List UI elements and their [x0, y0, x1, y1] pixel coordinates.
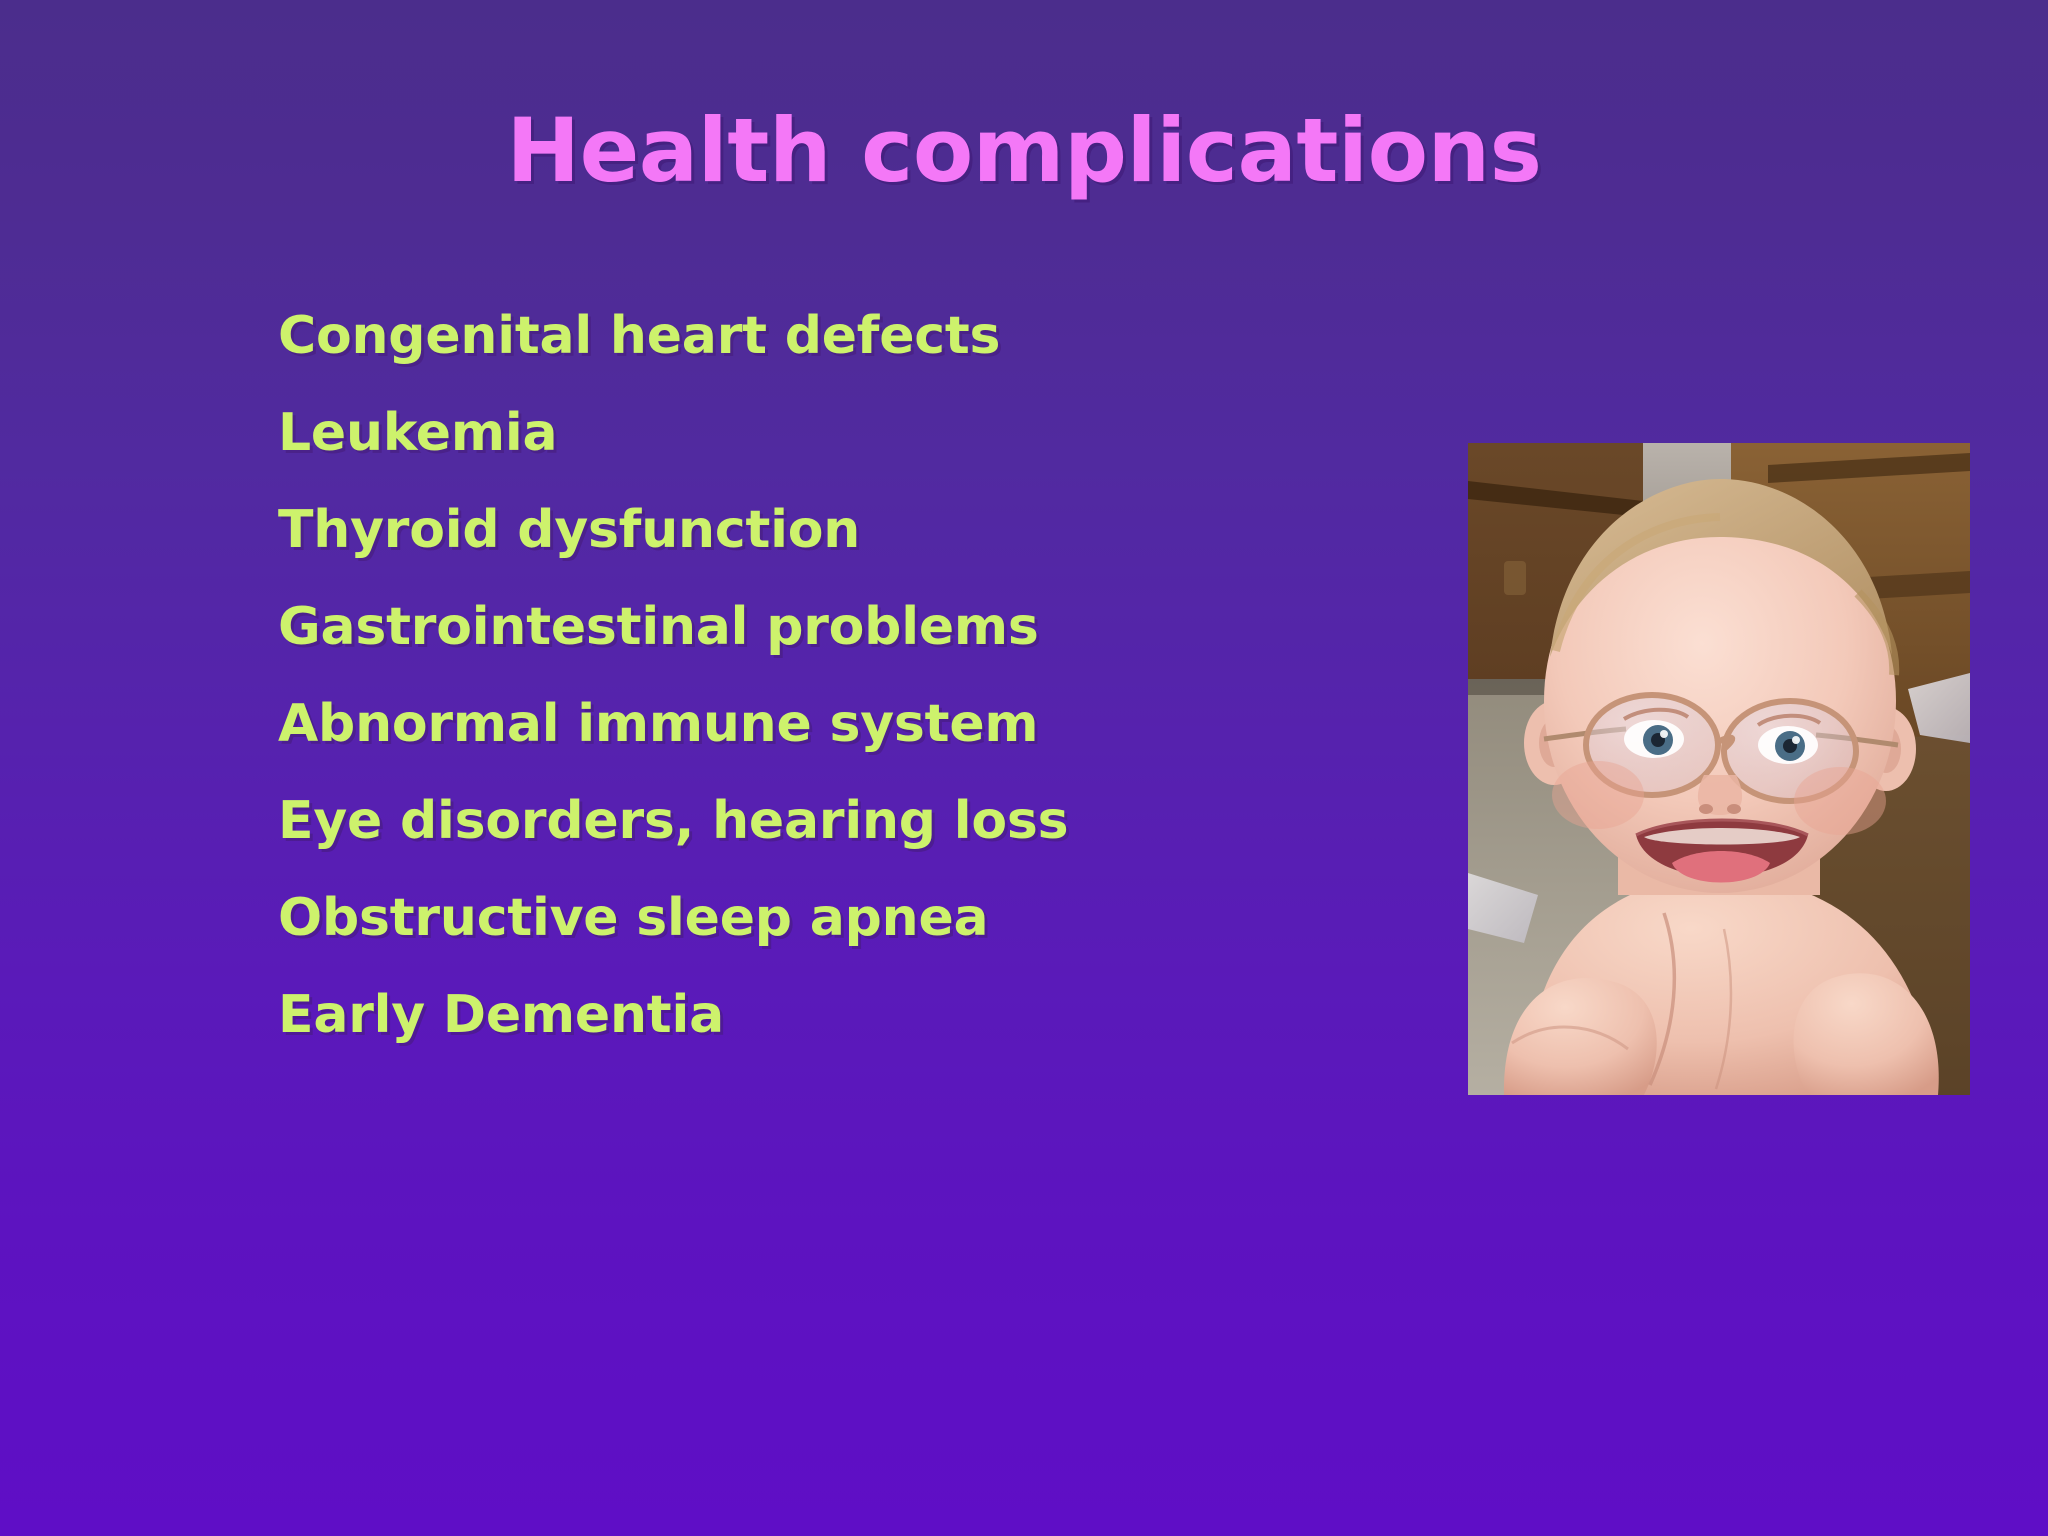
baby-with-glasses-photo — [1468, 443, 1970, 1095]
list-item: Gastrointestinal problems — [278, 579, 1398, 676]
slide-canvas: Health complications Congenital heart de… — [0, 0, 2048, 1536]
complications-list: Congenital heart defects Leukemia Thyroi… — [278, 288, 1398, 1064]
list-item: Early Dementia — [278, 967, 1398, 1064]
list-item: Thyroid dysfunction — [278, 482, 1398, 579]
list-item: Leukemia — [278, 385, 1398, 482]
page-title: Health complications — [0, 105, 2048, 197]
list-item: Congenital heart defects — [278, 288, 1398, 385]
list-item: Eye disorders, hearing loss — [278, 773, 1398, 870]
list-item: Obstructive sleep apnea — [278, 870, 1398, 967]
list-item: Abnormal immune system — [278, 676, 1398, 773]
